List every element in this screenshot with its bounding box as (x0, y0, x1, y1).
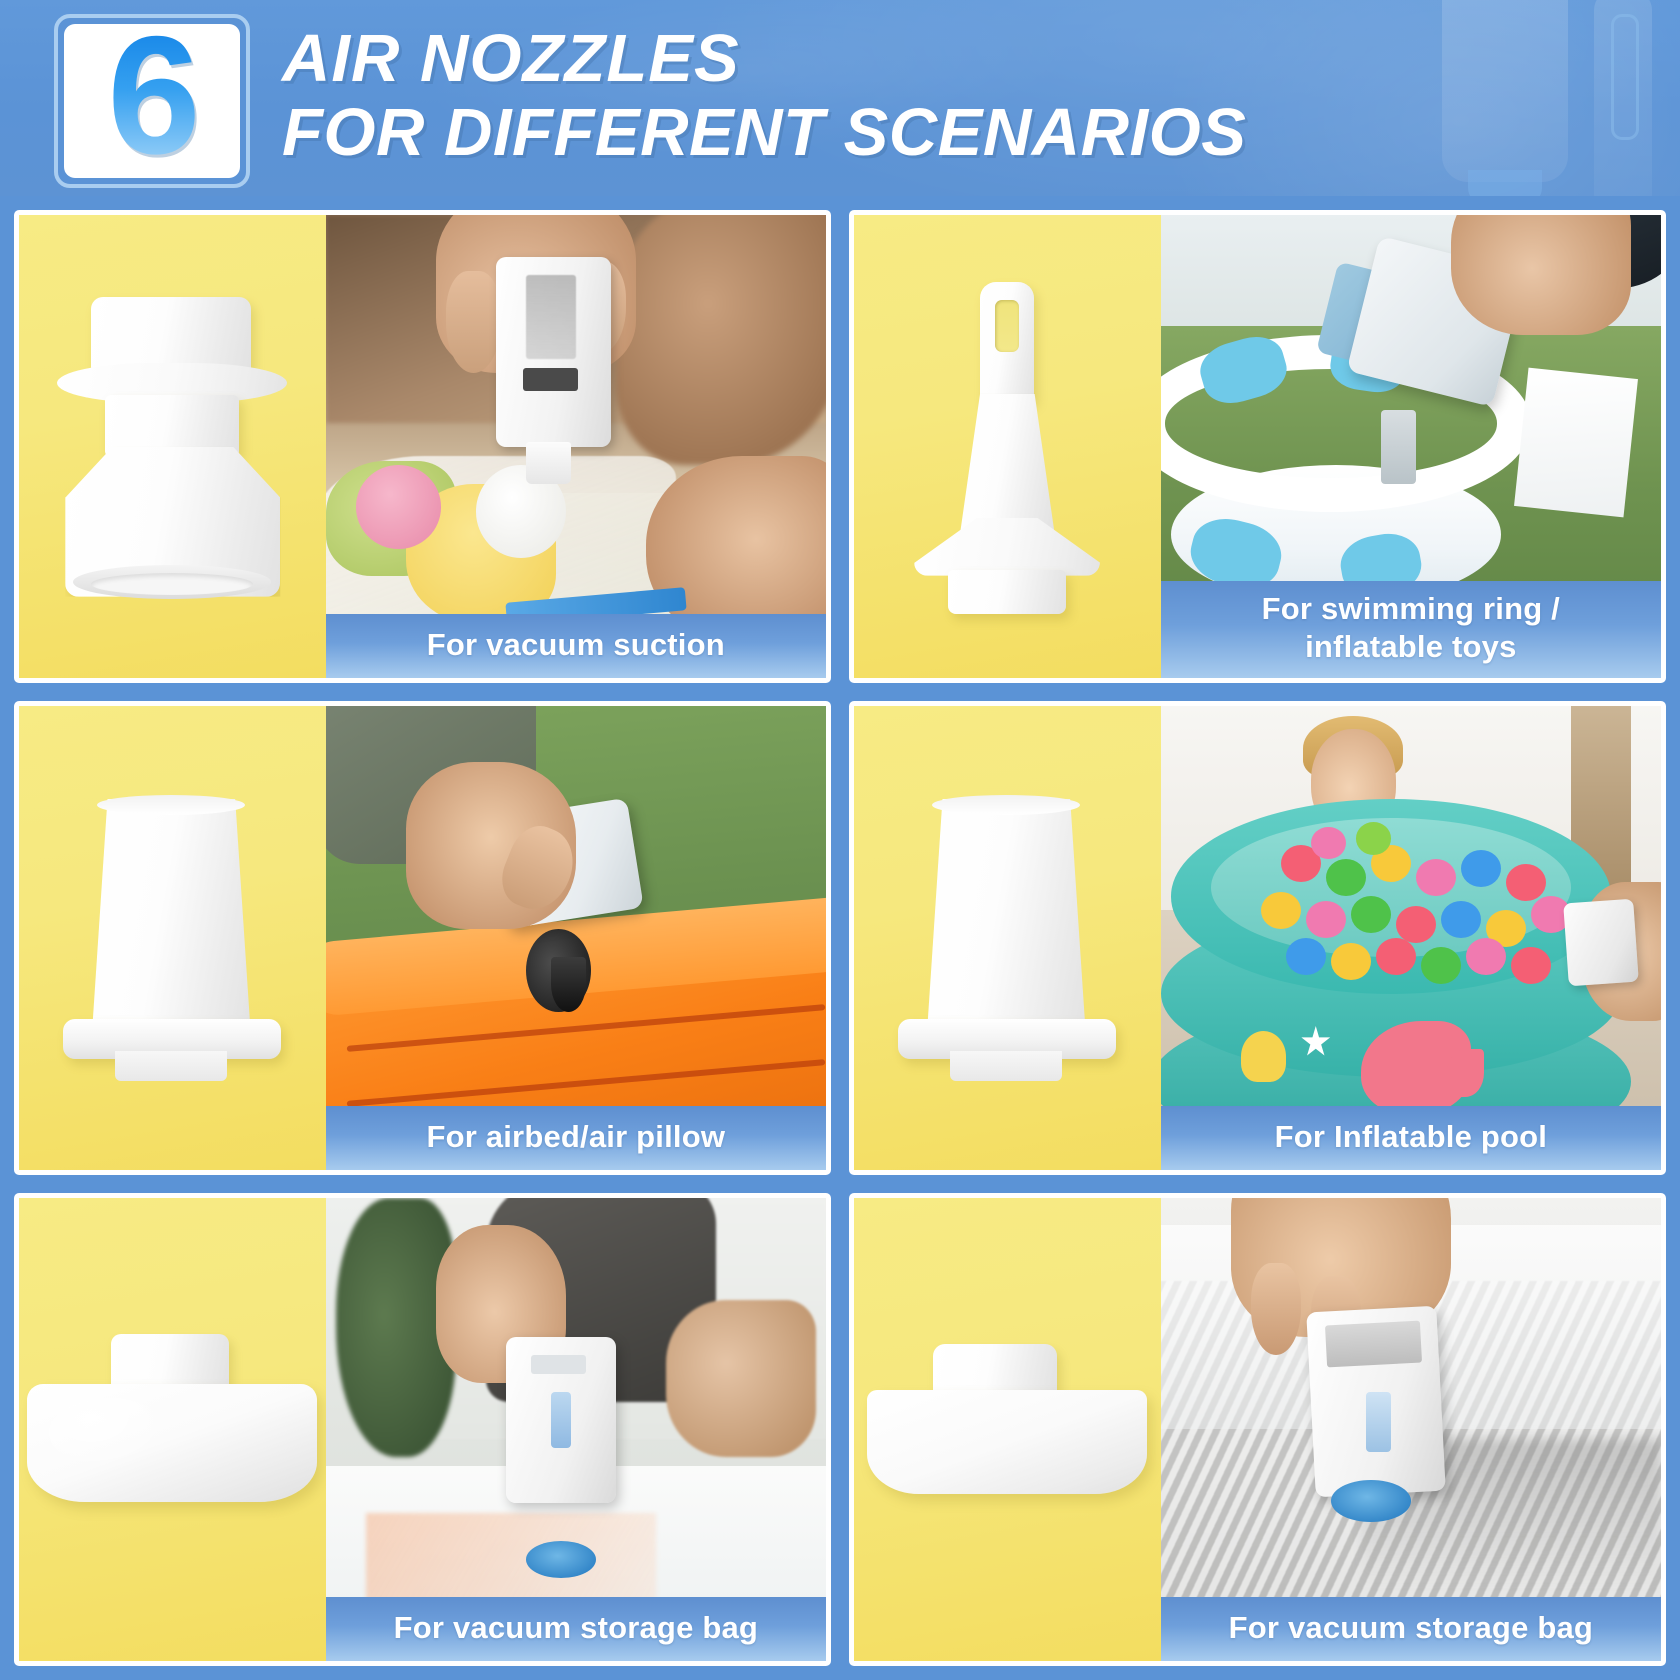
pump-led-indicator (1366, 1392, 1391, 1452)
panel-inner: For vacuum suction (19, 215, 826, 678)
pump-power-button (531, 1355, 586, 1374)
octopus-graphic (1241, 1031, 1286, 1082)
play-ball-held (1311, 827, 1346, 859)
nozzle-pane (19, 1198, 326, 1661)
pump-usb-port (523, 368, 578, 391)
photo-pane: For swimming ring / inflatable toys (1161, 215, 1661, 678)
ring-valve (1381, 410, 1416, 484)
panel-inner: For airbed/air pillow (19, 706, 826, 1169)
nozzle-skirt (914, 518, 1100, 576)
play-ball-held (1356, 822, 1391, 854)
photo-pane: For vacuum storage bag (1161, 1198, 1661, 1661)
panel-inner: For vacuum storage bag (19, 1198, 826, 1661)
title-line-2: FOR DIFFERENT SCENARIOS (282, 96, 1672, 170)
nozzle-cap (91, 297, 251, 371)
count-badge-inner: 6 (64, 24, 240, 178)
nozzle-stub (115, 1051, 227, 1081)
scene-vacuum-suction (326, 215, 826, 678)
finger-left (446, 271, 501, 373)
panel-inner: For swimming ring / inflatable toys (854, 215, 1661, 678)
play-ball (1326, 859, 1366, 896)
play-ball (1306, 901, 1346, 938)
airbed-valve-cap (551, 957, 586, 1013)
panel-caption: For Inflatable pool (1161, 1106, 1661, 1170)
ghost-pump-nozzle-decoration (1468, 170, 1542, 196)
panel-vacuum-storage-bag-1[interactable]: For vacuum storage bag (14, 1193, 831, 1666)
person-leg (666, 1300, 816, 1458)
tall-tapered-spout-nozzle-icon (882, 282, 1132, 612)
nozzle-pane (854, 1198, 1161, 1661)
play-ball (1351, 896, 1391, 933)
panel-airbed[interactable]: For airbed/air pillow (14, 701, 831, 1174)
nozzle-cup-rim (97, 795, 245, 815)
panel-grid: For vacuum suction (0, 196, 1680, 1680)
instruction-label (1514, 367, 1638, 517)
play-ball (1506, 864, 1546, 901)
photo-pane: For airbed/air pillow (326, 706, 826, 1169)
panel-inner: For vacuum storage bag (854, 1198, 1661, 1661)
play-ball (1461, 850, 1501, 887)
scene-storage-bag-knit-blanket (1161, 1198, 1661, 1661)
panel-caption: For vacuum suction (326, 614, 826, 678)
panel-swimming-ring[interactable]: For swimming ring / inflatable toys (849, 210, 1666, 683)
tapered-cup-nozzle-icon (57, 793, 287, 1083)
clothes-pink (356, 465, 441, 548)
photo-pane: For Inflatable pool (1161, 706, 1661, 1169)
nozzle-rim-inner (91, 573, 253, 595)
nozzle-top-collar (933, 1344, 1057, 1396)
pump-led-indicator (551, 1392, 571, 1448)
caption-line-2: inflatable toys (1171, 628, 1651, 666)
nozzle-pane (19, 215, 326, 678)
nozzle-pane (19, 706, 326, 1169)
nozzle-cup (922, 799, 1090, 1027)
pump-label (1325, 1320, 1422, 1367)
panel-vacuum-suction[interactable]: For vacuum suction (14, 210, 831, 683)
nozzle-disc (867, 1390, 1147, 1494)
panel-vacuum-storage-bag-2[interactable]: For vacuum storage bag (849, 1193, 1666, 1666)
nozzle-pane (854, 706, 1161, 1169)
nozzle-base (948, 570, 1066, 614)
pump-attached-nozzle (526, 442, 571, 484)
panel-caption: For airbed/air pillow (326, 1106, 826, 1170)
bag-valve (1331, 1480, 1411, 1522)
play-ball (1441, 901, 1481, 938)
pump-device (1563, 899, 1639, 987)
saker-logo-icon (526, 275, 576, 358)
play-ball (1261, 892, 1301, 929)
play-ball (1396, 906, 1436, 943)
play-ball (1376, 938, 1416, 975)
play-ball (1466, 938, 1506, 975)
nozzle-pane (854, 215, 1161, 678)
panel-caption: For swimming ring / inflatable toys (1161, 581, 1661, 678)
finger (1251, 1263, 1301, 1356)
nozzle-cup-rim (932, 795, 1080, 815)
count-badge: 6 (54, 14, 250, 188)
infographic-page: 6 AIR NOZZLES FOR DIFFERENT SCENARIOS (0, 0, 1680, 1680)
hand-holding-pump (1451, 215, 1631, 335)
panel-inflatable-pool[interactable]: For Inflatable pool (849, 701, 1666, 1174)
flat-disc-nozzle-low-icon (867, 1344, 1147, 1514)
bag-valve (526, 1541, 596, 1578)
panel-caption: For vacuum storage bag (1161, 1597, 1661, 1661)
panel-inner: For Inflatable pool (854, 706, 1661, 1169)
caption-line-1: For swimming ring / (1171, 590, 1651, 628)
play-ball (1511, 947, 1551, 984)
photo-pane: For vacuum suction (326, 215, 826, 678)
scene-airbed (326, 706, 826, 1169)
header-banner: 6 AIR NOZZLES FOR DIFFERENT SCENARIOS (0, 0, 1680, 196)
play-ball (1286, 938, 1326, 975)
stepped-cone-nozzle-icon (47, 297, 297, 597)
nozzle-taper (960, 394, 1054, 532)
play-ball (1421, 947, 1461, 984)
nozzle-cup (87, 799, 255, 1027)
flat-disc-nozzle-icon (27, 1334, 317, 1524)
scene-inflatable-pool (1161, 706, 1661, 1169)
play-ball (1416, 859, 1456, 896)
play-ball (1331, 943, 1371, 980)
tapered-cup-nozzle-wide-icon (892, 793, 1122, 1083)
photo-pane: For vacuum storage bag (326, 1198, 826, 1661)
panel-caption: For vacuum storage bag (326, 1597, 826, 1661)
scene-vacuum-storage-bag-indoor (326, 1198, 826, 1661)
nozzle-slot-hole (995, 300, 1019, 352)
nozzle-stub (950, 1051, 1062, 1081)
count-badge-number: 6 (107, 27, 196, 175)
title-line-1: AIR NOZZLES (282, 22, 1672, 96)
person-leg (616, 215, 826, 465)
page-title: AIR NOZZLES FOR DIFFERENT SCENARIOS (282, 22, 1672, 170)
